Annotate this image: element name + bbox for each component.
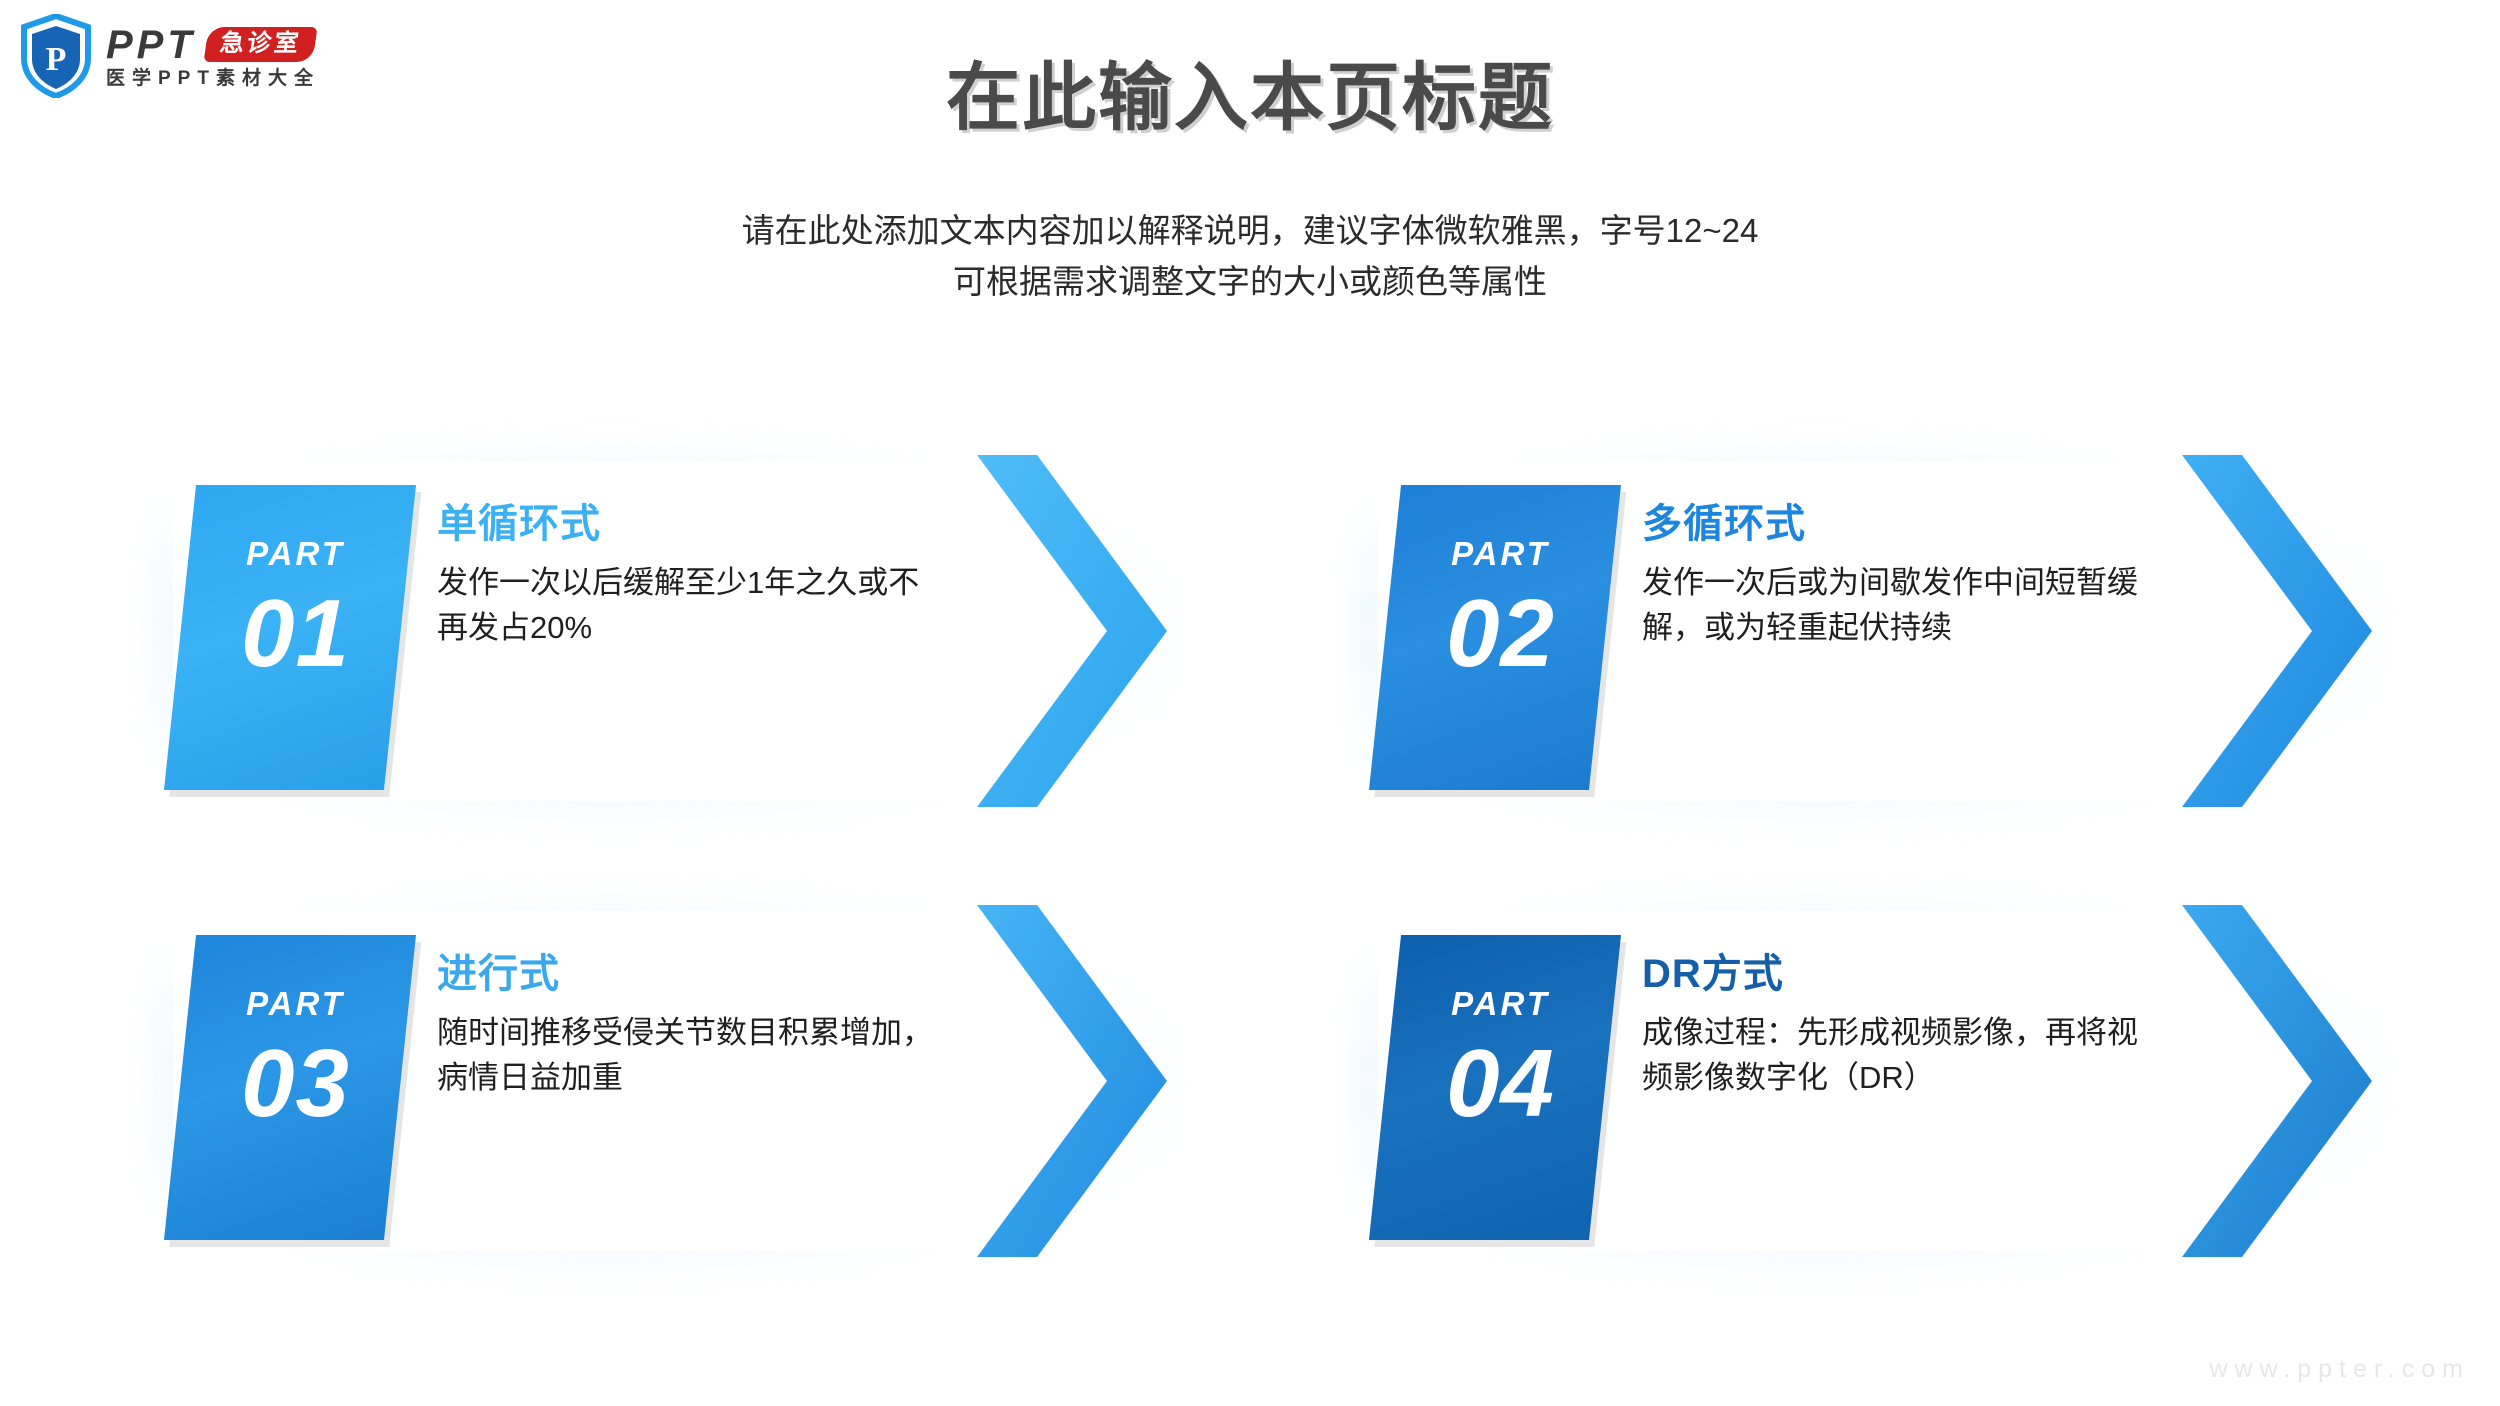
part-badge: PART 02 xyxy=(1369,485,1621,790)
info-card-01[interactable]: PART 01 单循环式 发作一次以后缓解至少1年之久或不再发占20% xyxy=(165,455,1285,805)
subtitle-line-1: 请在此处添加文本内容加以解释说明，建议字体微软雅黑，字号12~24 xyxy=(0,205,2500,256)
info-card-03[interactable]: PART 03 进行式 随时间推移受侵关节数目积累增加，病情日益加重 xyxy=(165,905,1285,1255)
page-title: 在此输入本页标题 xyxy=(0,38,2500,145)
card-text-column: DR方式 成像过程：先形成视频影像，再将视频影像数字化（DR） xyxy=(1642,941,2142,1101)
chevron-arrow-icon xyxy=(977,905,1227,1257)
card-heading: 进行式 xyxy=(437,941,937,999)
chevron-arrow-icon xyxy=(977,455,1227,807)
card-description: 发作一次后或为间歇发作中间短暂缓解，或为轻重起伏持续 xyxy=(1642,561,2142,651)
part-label: PART xyxy=(186,537,406,570)
part-label: PART xyxy=(186,987,406,1020)
card-text-column: 进行式 随时间推移受侵关节数目积累增加，病情日益加重 xyxy=(437,941,937,1101)
subtitle-line-2: 可根据需求调整文字的大小或颜色等属性 xyxy=(0,256,2500,307)
part-label: PART xyxy=(1391,987,1611,1020)
card-text-column: 多循环式 发作一次后或为间歇发作中间短暂缓解，或为轻重起伏持续 xyxy=(1642,491,2142,651)
card-heading: DR方式 xyxy=(1642,941,2142,999)
footer-watermark: www.ppter.com xyxy=(2209,1355,2470,1384)
chevron-arrow-icon xyxy=(2182,455,2432,807)
info-card-02[interactable]: PART 02 多循环式 发作一次后或为间歇发作中间短暂缓解，或为轻重起伏持续 xyxy=(1370,455,2490,805)
card-description: 成像过程：先形成视频影像，再将视频影像数字化（DR） xyxy=(1642,1011,2142,1101)
part-badge: PART 03 xyxy=(164,935,416,1240)
card-description: 随时间推移受侵关节数目积累增加，病情日益加重 xyxy=(437,1011,937,1101)
part-number: 01 xyxy=(186,584,406,685)
card-text-column: 单循环式 发作一次以后缓解至少1年之久或不再发占20% xyxy=(437,491,937,651)
cards-grid: PART 01 单循环式 发作一次以后缓解至少1年之久或不再发占20% PART… xyxy=(0,455,2500,1315)
card-heading: 多循环式 xyxy=(1642,491,2142,549)
part-number: 02 xyxy=(1391,584,1611,685)
part-number: 04 xyxy=(1391,1034,1611,1135)
part-badge: PART 04 xyxy=(1369,935,1621,1240)
card-heading: 单循环式 xyxy=(437,491,937,549)
info-card-04[interactable]: PART 04 DR方式 成像过程：先形成视频影像，再将视频影像数字化（DR） xyxy=(1370,905,2490,1255)
card-description: 发作一次以后缓解至少1年之久或不再发占20% xyxy=(437,561,937,651)
chevron-arrow-icon xyxy=(2182,905,2432,1257)
part-number: 03 xyxy=(186,1034,406,1135)
part-badge: PART 01 xyxy=(164,485,416,790)
page-subtitle: 请在此处添加文本内容加以解释说明，建议字体微软雅黑，字号12~24 可根据需求调… xyxy=(0,205,2500,307)
part-label: PART xyxy=(1391,537,1611,570)
